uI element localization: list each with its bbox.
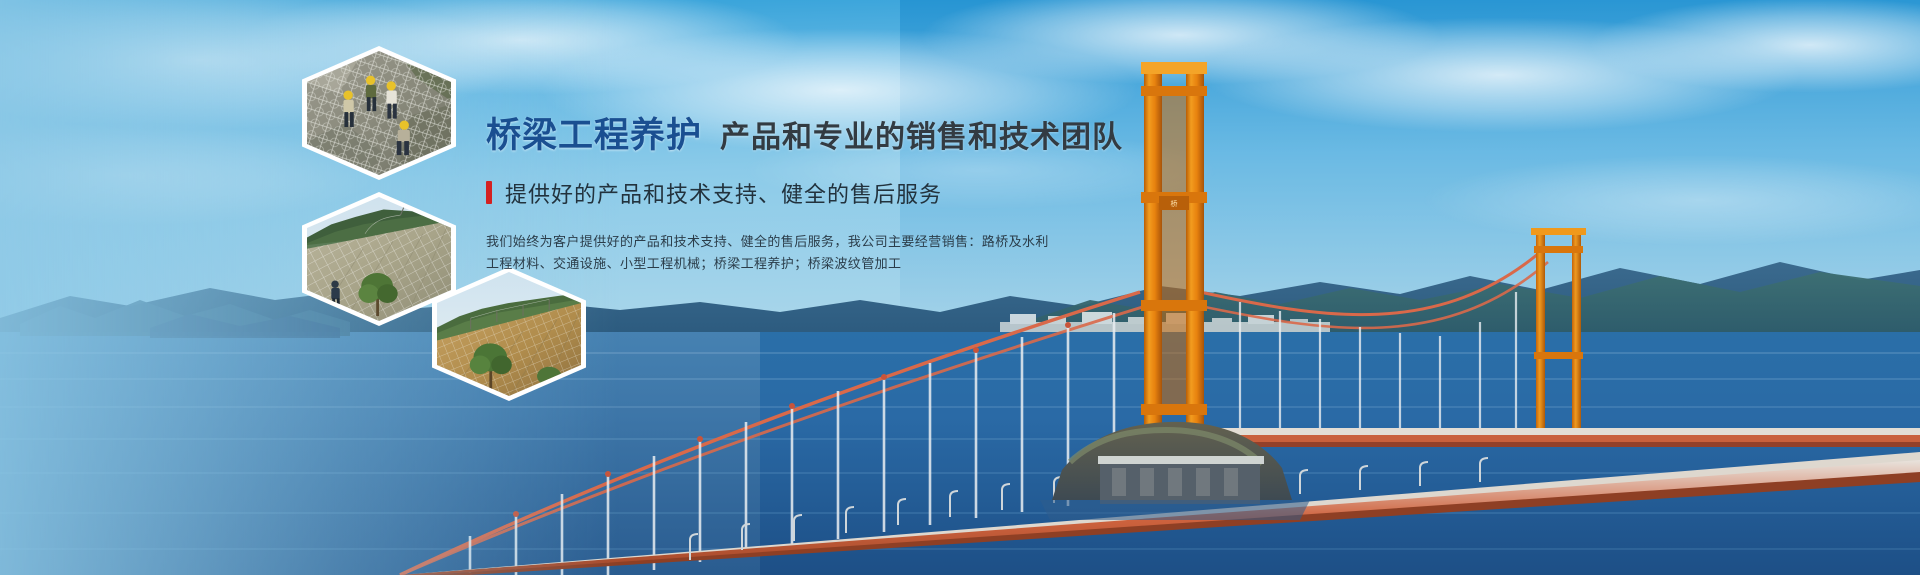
hero-banner: 桥	[0, 0, 1920, 575]
banner-copy: 桥梁工程养护 产品和专业的销售和技术团队 提供好的产品和技术支持、健全的售后服务…	[486, 118, 1126, 275]
headline-primary: 桥梁工程养护	[486, 118, 702, 155]
far-bridge-deck	[1200, 428, 1920, 447]
shrub	[537, 367, 574, 392]
banner-paragraph: 我们始终为客户提供好的产品和技术支持、健全的售后服务，我公司主要经营销售：路桥及…	[486, 231, 886, 275]
headline-secondary: 产品和专业的销售和技术团队	[720, 122, 1123, 154]
banner-headline: 桥梁工程养护 产品和专业的销售和技术团队	[486, 118, 1126, 155]
hexagon-image-slope-protection-mesh	[307, 197, 451, 321]
svg-text:桥: 桥	[1171, 199, 1178, 208]
paragraph-line-1: 我们始终为客户提供好的产品和技术支持、健全的售后服务，我公司主要经营销售：路桥及…	[486, 231, 886, 253]
banner-subheadline: 提供好的产品和技术支持、健全的售后服务	[505, 177, 942, 209]
paragraph-line-2: 工程材料、交通设施、小型工程机械；桥梁工程养护；桥梁波纹管加工	[486, 253, 886, 275]
hexagon-image-hillside-greening-mesh	[437, 272, 581, 396]
banner-subheadline-row: 提供好的产品和技术支持、健全的售后服务	[486, 177, 1126, 209]
hexagon-image-rockfall-netting-workers	[307, 51, 451, 175]
gallery-hexagon-1[interactable]	[302, 46, 456, 180]
hexagon-frame	[432, 267, 586, 401]
worker	[331, 281, 339, 309]
background-scene: 桥	[0, 0, 1920, 575]
red-accent-bar	[486, 181, 492, 204]
hexagon-frame	[302, 46, 456, 180]
gallery-hexagon-3[interactable]	[432, 267, 586, 401]
